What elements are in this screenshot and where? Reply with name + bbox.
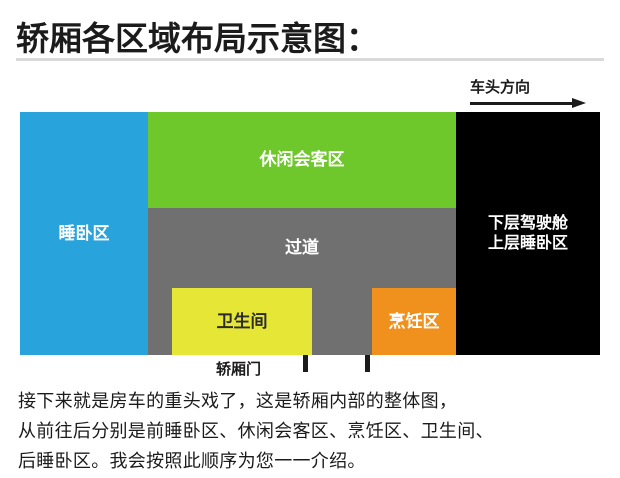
caption-block: 接下来就是房车的重头戏了，这是轿厢内部的整体图， 从前往后分别是前睡卧区、休闲会… [18,386,604,476]
caption-line-1: 接下来就是房车的重头戏了，这是轿厢内部的整体图， [18,386,604,416]
door-label: 轿厢门 [216,358,261,379]
zone-bedroom: 睡卧区 [20,112,148,355]
direction-label: 车头方向 [470,76,530,97]
zone-bathroom: 卫生间 [172,288,312,355]
zone-cabin: 下层驾驶舱 上层睡卧区 [456,112,600,355]
zone-kitchen: 烹饪区 [372,288,456,355]
page-root: 轿厢各区域布局示意图： 车头方向 睡卧区 休闲会客区 过道 卫生间 烹饪区 下层… [0,0,620,478]
caption-line-3: 后睡卧区。我会按照此顺序为您一一介绍。 [18,446,604,476]
title-divider [16,58,604,61]
door-marker-icon [365,355,370,372]
caption-line-2: 从前往后分别是前睡卧区、休闲会客区、烹饪区、卫生间、 [18,416,604,446]
zone-corridor: 过道 [148,208,456,288]
page-title: 轿厢各区域布局示意图： [16,12,379,60]
arrow-right-icon [470,98,586,108]
door-marker-icon [303,355,308,372]
layout-diagram: 睡卧区 休闲会客区 过道 卫生间 烹饪区 下层驾驶舱 上层睡卧区 [20,112,600,355]
zone-corridor-filler-middle [312,288,372,355]
zone-corridor-filler-left [148,288,172,355]
zone-lounge: 休闲会客区 [148,112,456,208]
